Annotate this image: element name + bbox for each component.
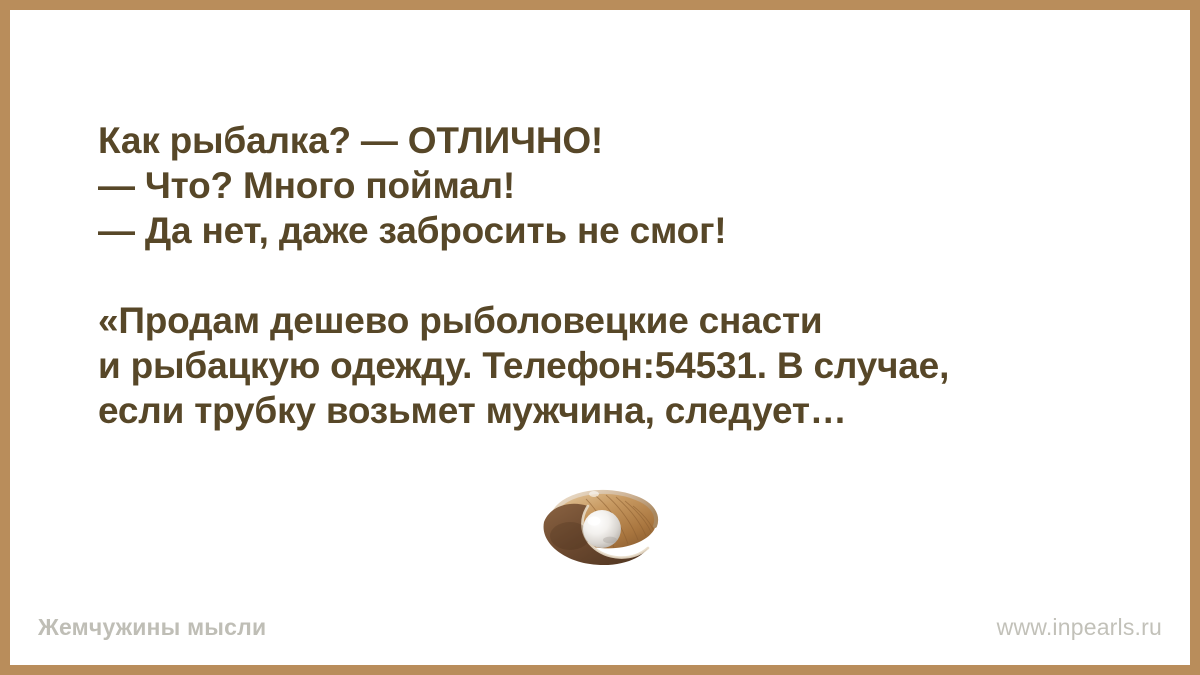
- quote-content: Как рыбалка? — ОТЛИЧНО! — Что? Много пой…: [98, 118, 1130, 433]
- joke-dialogue-text: Как рыбалка? — ОТЛИЧНО! — Что? Много пой…: [98, 118, 1130, 253]
- pearl-shading: [603, 537, 617, 544]
- pearl-highlight: [588, 516, 601, 525]
- oyster-shell-with-pearl-icon: [536, 482, 664, 568]
- pearl-glint: [589, 491, 599, 497]
- pearl: [583, 510, 621, 548]
- logo-container: [10, 482, 1190, 568]
- joke-advert-text: «Продам дешево рыболовецкие снасти и рыб…: [98, 298, 1130, 433]
- quote-card: Как рыбалка? — ОТЛИЧНО! — Что? Много пой…: [0, 0, 1200, 675]
- footer-brand-label: Жемчужины мысли: [38, 614, 266, 641]
- footer: Жемчужины мысли www.inpearls.ru: [20, 599, 1180, 655]
- footer-website-url[interactable]: www.inpearls.ru: [997, 614, 1162, 641]
